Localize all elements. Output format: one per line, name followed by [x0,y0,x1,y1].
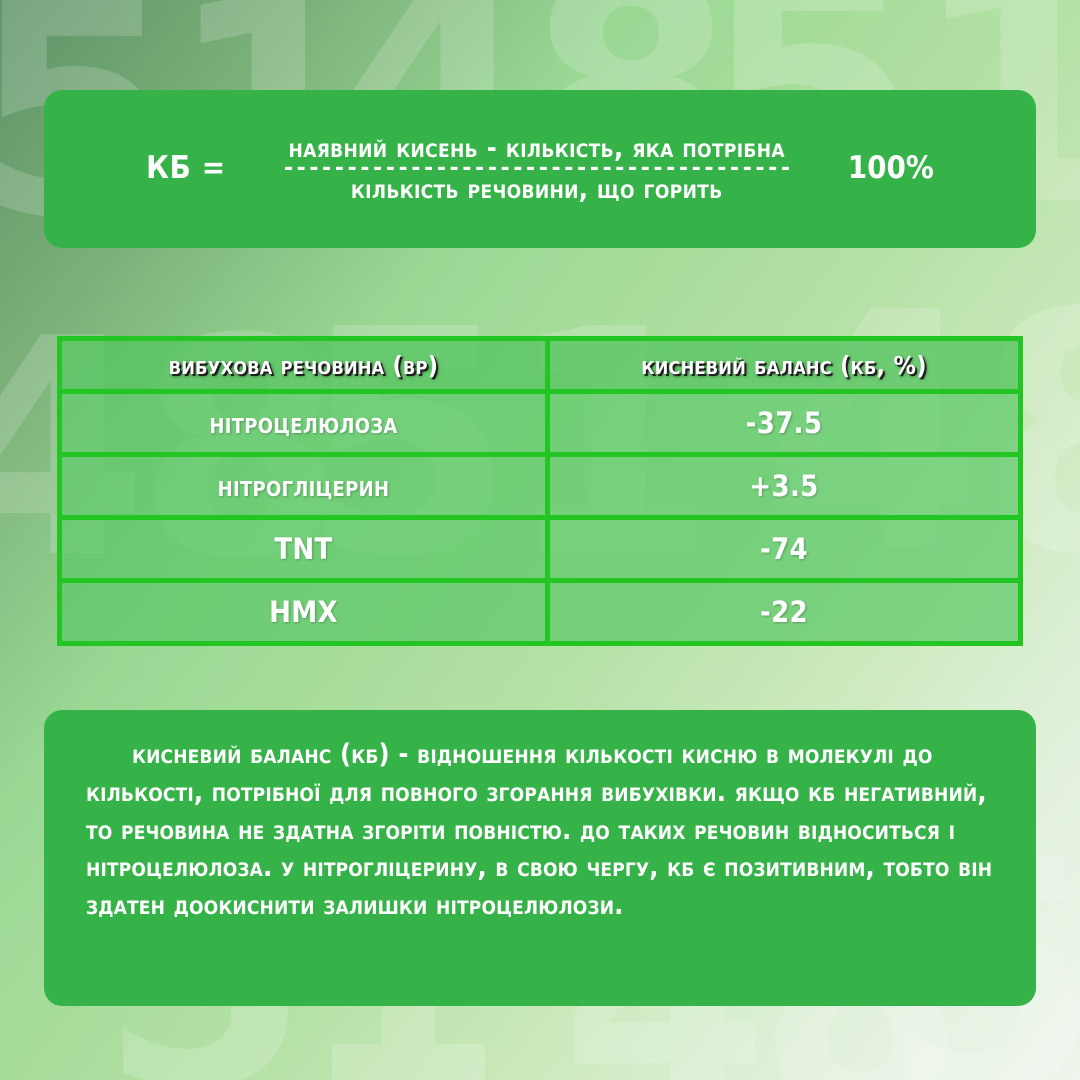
cell-oxygen-balance-value: -22 [548,581,1021,644]
table-header-substance: Вибухова речовина (ВР) [60,339,548,392]
cell-substance-name: Нітроцелюлоза [60,392,548,455]
cell-substance-name: Нітрогліцерин [60,455,548,518]
table-row: TNT -74 [60,518,1021,581]
table-header-row: Вибухова речовина (ВР) Кисневий баланс (… [60,339,1021,392]
table-row: Нітрогліцерин +3.5 [60,455,1021,518]
formula-denominator: Кількість речовини, що горить [351,174,723,205]
cell-substance-name: HMX [60,581,548,644]
table-row: Нітроцелюлоза -37.5 [60,392,1021,455]
table-row: HMX -22 [60,581,1021,644]
cell-oxygen-balance-value: +3.5 [548,455,1021,518]
infographic-canvas: 51 48 51 48 51 48 51 48 51 КБ = Наявний … [0,0,1080,1080]
formula-right-side: 100% [848,150,934,188]
formula-fraction: Наявний кисень - Кількість, яка потрібна… [228,133,846,205]
cell-oxygen-balance-value: -74 [548,518,1021,581]
cell-oxygen-balance-value: -37.5 [548,392,1021,455]
table-body: Нітроцелюлоза -37.5 Нітрогліцерин +3.5 T… [60,392,1021,644]
formula-card: КБ = Наявний кисень - Кількість, яка пот… [44,90,1036,248]
formula-left-side: КБ = [146,150,226,188]
table-header-oxygen-balance: Кисневий баланс (КБ, %) [548,339,1021,392]
description-paragraph: Кисневий баланс (КБ) - відношення кілько… [86,736,996,925]
cell-substance-name: TNT [60,518,548,581]
description-card: Кисневий баланс (КБ) - відношення кілько… [44,710,1036,1006]
oxygen-balance-table: Вибухова речовина (ВР) Кисневий баланс (… [57,336,1023,646]
formula-expression: КБ = Наявний кисень - Кількість, яка пот… [44,133,1036,205]
